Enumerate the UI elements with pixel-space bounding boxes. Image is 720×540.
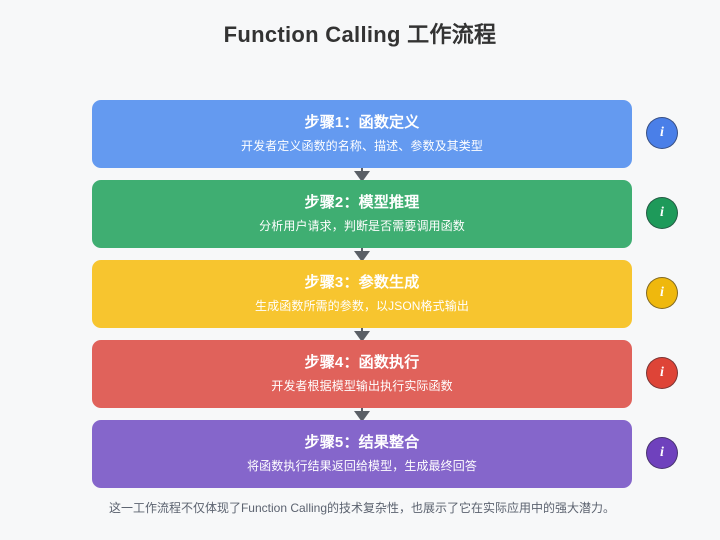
arrow-down-icon	[0, 408, 720, 420]
step-card-5[interactable]: 步骤5：结果整合将函数执行结果返回给模型，生成最终回答	[92, 420, 632, 488]
step-title: 步骤5：结果整合	[305, 434, 420, 453]
step-title: 步骤1：函数定义	[305, 114, 420, 133]
page-title: Function Calling 工作流程	[0, 0, 720, 48]
step-description: 将函数执行结果返回给模型，生成最终回答	[247, 459, 477, 475]
flow-diagram: 步骤1：函数定义开发者定义函数的名称、描述、参数及其类型i步骤2：模型推理分析用…	[0, 100, 720, 500]
info-icon[interactable]: i	[646, 197, 678, 229]
arrow-down-icon	[0, 328, 720, 340]
step-title: 步骤2：模型推理	[305, 194, 420, 213]
step-row: 步骤2：模型推理分析用户请求，判断是否需要调用函数i	[0, 180, 720, 260]
step-card-3[interactable]: 步骤3：参数生成生成函数所需的参数，以JSON格式输出	[92, 260, 632, 328]
arrow-down-icon	[0, 248, 720, 260]
step-card-2[interactable]: 步骤2：模型推理分析用户请求，判断是否需要调用函数	[92, 180, 632, 248]
step-description: 开发者根据模型输出执行实际函数	[271, 379, 453, 395]
footer-note: 这一工作流程不仅体现了Function Calling的技术复杂性，也展示了它在…	[92, 500, 632, 517]
info-icon[interactable]: i	[646, 357, 678, 389]
step-description: 开发者定义函数的名称、描述、参数及其类型	[241, 139, 483, 155]
step-title: 步骤4：函数执行	[305, 354, 420, 373]
info-icon[interactable]: i	[646, 277, 678, 309]
step-description: 生成函数所需的参数，以JSON格式输出	[255, 299, 469, 315]
step-description: 分析用户请求，判断是否需要调用函数	[259, 219, 465, 235]
step-card-4[interactable]: 步骤4：函数执行开发者根据模型输出执行实际函数	[92, 340, 632, 408]
info-icon[interactable]: i	[646, 437, 678, 469]
step-row: 步骤4：函数执行开发者根据模型输出执行实际函数i	[0, 340, 720, 420]
step-title: 步骤3：参数生成	[305, 274, 420, 293]
step-row: 步骤3：参数生成生成函数所需的参数，以JSON格式输出i	[0, 260, 720, 340]
step-row: 步骤1：函数定义开发者定义函数的名称、描述、参数及其类型i	[0, 100, 720, 180]
step-card-1[interactable]: 步骤1：函数定义开发者定义函数的名称、描述、参数及其类型	[92, 100, 632, 168]
info-icon[interactable]: i	[646, 117, 678, 149]
arrow-down-icon	[0, 168, 720, 180]
step-row: 步骤5：结果整合将函数执行结果返回给模型，生成最终回答i	[0, 420, 720, 500]
